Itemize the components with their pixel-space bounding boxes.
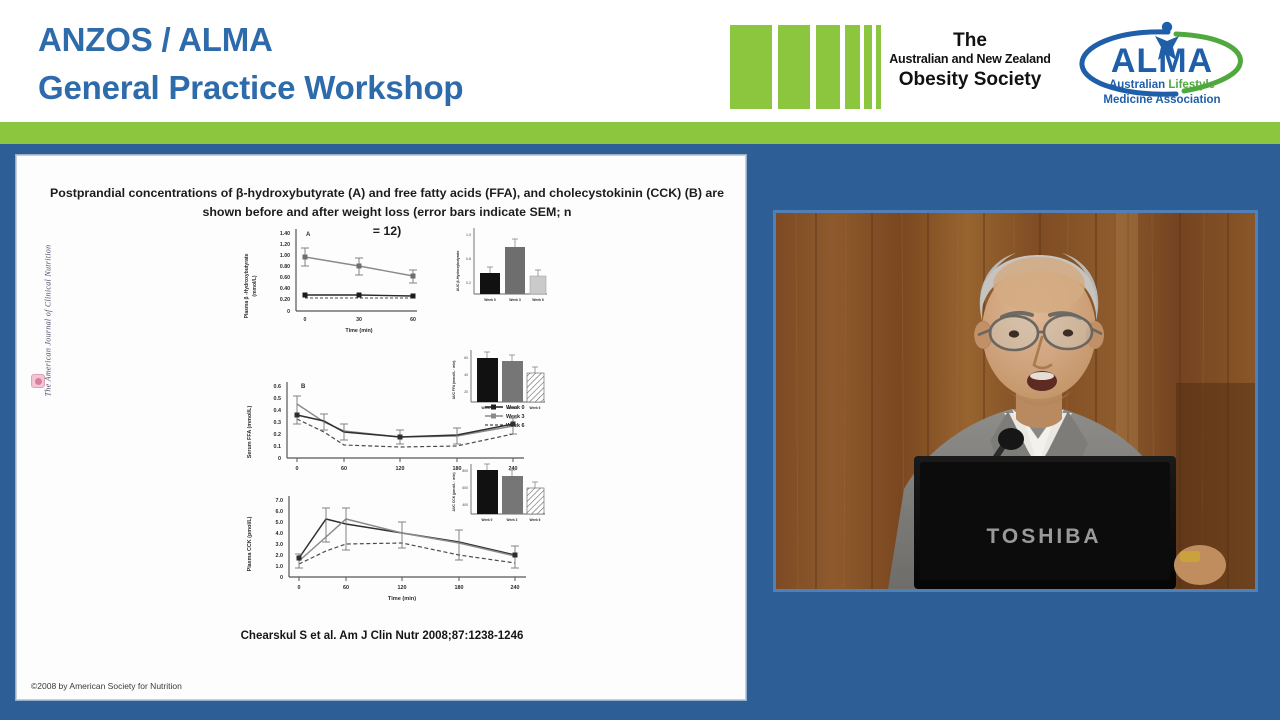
svg-text:Week 6: Week 6 [530, 406, 541, 410]
svg-text:600: 600 [462, 486, 468, 490]
svg-text:1.00: 1.00 [280, 253, 290, 259]
svg-text:0: 0 [304, 317, 307, 323]
chart-inset-b: AUC FFA (mmol/L · min) 60 40 20 [442, 342, 552, 422]
svg-text:120: 120 [398, 585, 407, 591]
page-title-line2: General Practice Workshop [38, 64, 463, 112]
svg-text:Week 6: Week 6 [530, 518, 541, 522]
page-header: ANZOS / ALMA General Practice Workshop T… [0, 0, 1280, 122]
svg-text:Week 0: Week 0 [482, 406, 493, 410]
svg-text:B: B [301, 384, 306, 390]
svg-text:Week 6: Week 6 [532, 298, 544, 302]
svg-text:Medicine Association: Medicine Association [1103, 94, 1220, 106]
anzos-main-label: Obesity Society [880, 68, 1060, 92]
svg-text:ALMA: ALMA [1111, 42, 1213, 80]
presenter-video-image: TOSHIBA [776, 213, 1255, 589]
anzos-bars-icon [730, 25, 880, 109]
svg-text:6.0: 6.0 [276, 509, 284, 515]
anzos-the-label: The [880, 30, 1060, 51]
svg-text:AUC FFA (mmol/L · min): AUC FFA (mmol/L · min) [452, 361, 456, 400]
svg-text:240: 240 [511, 585, 520, 591]
chart-inset-c: AUC CCK (pmol/L · min) 800 600 400 [442, 456, 552, 536]
svg-text:Australian Lifestyle: Australian Lifestyle [1109, 79, 1215, 91]
svg-text:0.6: 0.6 [466, 257, 471, 261]
svg-text:0: 0 [280, 575, 283, 581]
svg-text:0: 0 [287, 309, 290, 315]
svg-text:1.40: 1.40 [280, 231, 290, 237]
svg-text:Plasma β -Hydroxybutyrate: Plasma β -Hydroxybutyrate [244, 253, 250, 318]
copyright-label: ©2008 by American Society for Nutrition [31, 681, 182, 691]
svg-text:0: 0 [298, 585, 301, 591]
svg-text:Week 3: Week 3 [509, 298, 521, 302]
svg-text:Serum FFA (mmol/L): Serum FFA (mmol/L) [247, 406, 253, 459]
svg-text:1.20: 1.20 [280, 242, 290, 248]
svg-text:5.0: 5.0 [276, 520, 284, 526]
slide-panel: The American Journal of Clinical Nutriti… [16, 155, 746, 700]
anzos-subtitle-label: Australian and New Zealand [880, 51, 1060, 68]
svg-text:0.4: 0.4 [274, 408, 282, 414]
presenter-video[interactable]: TOSHIBA [776, 213, 1255, 589]
svg-text:0.80: 0.80 [280, 264, 290, 270]
svg-text:0.3: 0.3 [274, 420, 282, 426]
svg-text:1.0: 1.0 [466, 233, 471, 237]
svg-text:0.2: 0.2 [274, 432, 282, 438]
chart-panel-a: Plasma β -Hydroxybutyrate (mmol/L) 1.40 … [239, 224, 429, 339]
svg-text:0.2: 0.2 [466, 281, 471, 285]
app-root: ANZOS / ALMA General Practice Workshop T… [0, 0, 1280, 720]
caption-line-1: Postprandial concentrations of β-hydroxy… [50, 186, 546, 200]
svg-text:0.1: 0.1 [274, 444, 282, 450]
svg-text:0.5: 0.5 [274, 396, 282, 402]
chart-inset-a: AUC β-Hydroxybutyrate 1.0 0.6 0.2 [447, 216, 557, 326]
svg-text:40: 40 [464, 373, 468, 377]
svg-text:Week 0: Week 0 [484, 298, 496, 302]
svg-text:AUC CCK (pmol/L · min): AUC CCK (pmol/L · min) [452, 473, 456, 512]
svg-text:Week 3: Week 3 [507, 406, 518, 410]
svg-text:180: 180 [455, 585, 464, 591]
page-title-line1: ANZOS / ALMA [38, 16, 463, 64]
svg-text:2.0: 2.0 [276, 553, 284, 559]
svg-text:3.0: 3.0 [276, 542, 284, 548]
svg-text:0.40: 0.40 [280, 286, 290, 292]
anzos-wordmark: The Australian and New Zealand Obesity S… [880, 30, 1060, 108]
svg-text:AUC β-Hydroxybutyrate: AUC β-Hydroxybutyrate [456, 251, 460, 292]
svg-text:0.20: 0.20 [280, 297, 290, 303]
svg-text:1.0: 1.0 [276, 564, 284, 570]
svg-text:400: 400 [462, 503, 468, 507]
svg-text:800: 800 [462, 469, 468, 473]
header-accent-band [0, 122, 1280, 144]
svg-text:120: 120 [396, 466, 405, 472]
svg-text:20: 20 [464, 390, 468, 394]
svg-text:0: 0 [278, 456, 281, 462]
svg-text:0: 0 [296, 466, 299, 472]
laptop-brand-label: TOSHIBA [986, 525, 1101, 548]
svg-text:60: 60 [343, 585, 349, 591]
svg-text:60: 60 [464, 356, 468, 360]
svg-text:Week 3: Week 3 [507, 518, 518, 522]
svg-text:4.0: 4.0 [276, 531, 284, 537]
svg-text:30: 30 [356, 317, 362, 323]
alma-logo-icon: ALMA Australian Lifestyle Medicine Assoc… [1072, 14, 1252, 114]
svg-text:Time (min): Time (min) [388, 596, 416, 602]
svg-text:Week 0: Week 0 [482, 518, 493, 522]
svg-text:0.6: 0.6 [274, 384, 282, 390]
presenter-video-frame[interactable]: TOSHIBA [773, 210, 1258, 592]
figure-area: Plasma β -Hydroxybutyrate (mmol/L) 1.40 … [17, 224, 746, 644]
svg-text:A: A [306, 232, 311, 238]
svg-text:7.0: 7.0 [276, 498, 284, 504]
svg-text:Time (min): Time (min) [345, 328, 372, 334]
svg-text:Plasma CCK (pmol/L): Plasma CCK (pmol/L) [247, 516, 253, 571]
figure-citation: Chearskul S et al. Am J Clin Nutr 2008;8… [17, 630, 746, 642]
svg-text:60: 60 [410, 317, 416, 323]
svg-text:60: 60 [341, 466, 347, 472]
svg-text:(mmol/L): (mmol/L) [252, 275, 258, 296]
page-title: ANZOS / ALMA General Practice Workshop [38, 16, 463, 112]
svg-text:0.60: 0.60 [280, 275, 290, 281]
